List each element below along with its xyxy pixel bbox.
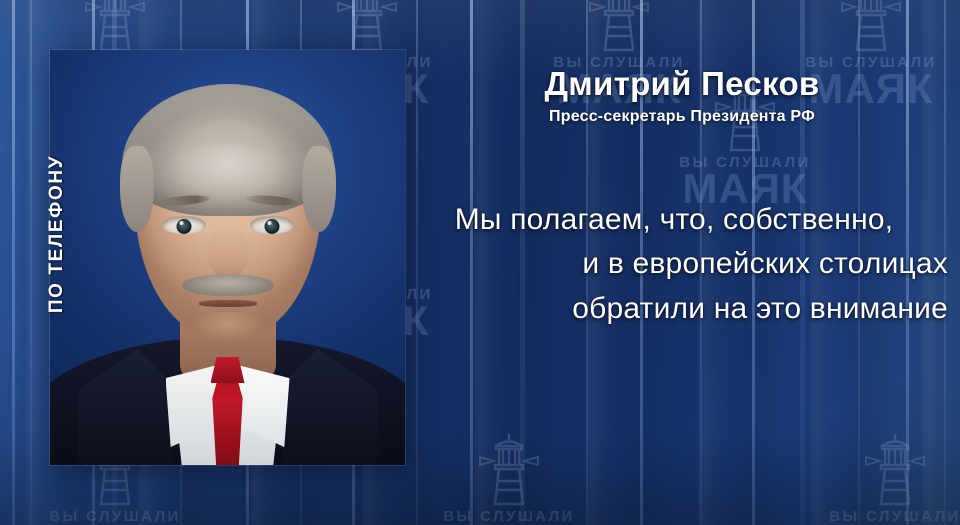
nose [208,226,248,280]
mouth [199,300,257,307]
moustache [182,274,274,296]
speaker-role: Пресс-секретарь Президента РФ [418,108,946,126]
chin [185,312,271,354]
eye-left [162,216,206,234]
quote-text: Мы полагаем, что, собственно, и в европе… [400,198,948,331]
quote-line: Мы полагаем, что, собственно, [400,198,948,242]
eye-right [250,216,294,234]
hair-side-right [302,146,336,232]
quote-line: обратили на это внимание [400,287,948,331]
speaker-name: Дмитрий Песков [418,66,946,102]
portrait-figure [50,50,405,465]
source-tag-label: ПО ТЕЛЕФОНУ [46,154,68,312]
source-tag-by-phone: ПО ТЕЛЕФОНУ [40,126,74,341]
speaker-identity: Дмитрий Песков Пресс-секретарь Президент… [418,66,946,126]
hair-side-left [120,146,154,232]
speaker-photo [50,50,405,465]
quote-line: и в европейских столицах [400,242,948,286]
broadcast-quote-card: ВЫ СЛУШАЛИ МАЯК ВЫ СЛУШАЛИ МАЯК [0,0,960,525]
